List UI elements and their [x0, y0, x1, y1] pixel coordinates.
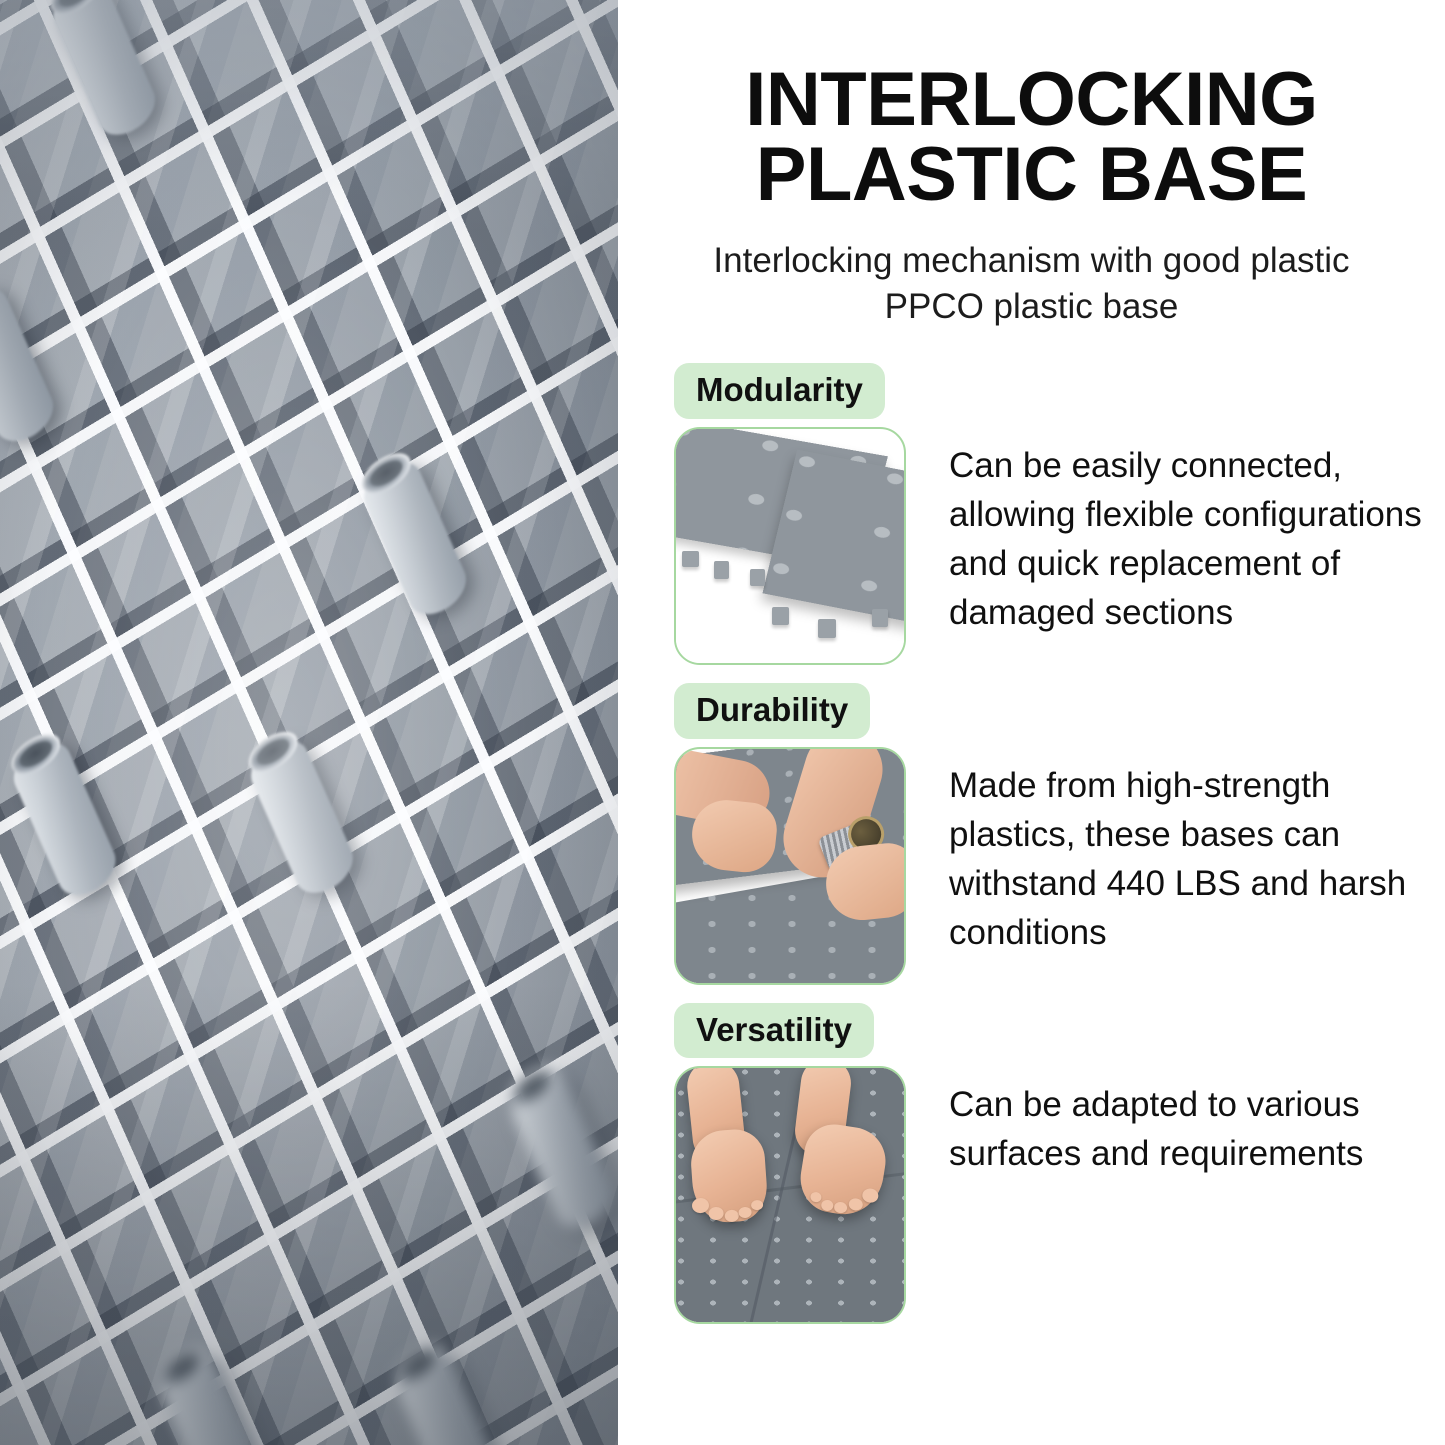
toe-icon	[708, 1207, 724, 1221]
grid-post-icon	[356, 451, 473, 624]
tile-connector-nub-icon	[872, 609, 888, 627]
toe-icon	[848, 1198, 864, 1212]
feature-thumbnail-durability	[674, 747, 906, 985]
feature-badge-versatility: Versatility	[674, 1003, 874, 1059]
feature-item-modularity: Modularity Can be easily connected, allo…	[618, 363, 1445, 665]
tile-connector-nub-icon	[818, 619, 836, 638]
page-subtitle: Interlocking mechanism with good plastic…	[618, 212, 1445, 329]
feature-list: Modularity Can be easily connected, allo…	[618, 363, 1445, 1324]
grid-post-icon	[390, 1343, 507, 1445]
infographic-page: INTERLOCKING PLASTIC BASE Interlocking m…	[0, 0, 1445, 1445]
toe-icon	[810, 1192, 822, 1204]
tile-connector-nub-icon	[750, 569, 765, 586]
toe-icon	[738, 1207, 752, 1219]
page-title: INTERLOCKING PLASTIC BASE	[618, 0, 1445, 212]
feature-row: Made from high-strength plastics, these …	[674, 747, 1445, 985]
feature-thumbnail-versatility	[674, 1066, 906, 1324]
tile-connector-nub-icon	[714, 561, 729, 579]
toe-icon	[691, 1198, 709, 1214]
toe-icon	[820, 1199, 834, 1212]
grid-post-icon	[153, 1345, 270, 1445]
toe-icon	[724, 1210, 739, 1223]
plastic-grid-scene	[0, 0, 618, 1445]
tile-connector-nub-icon	[682, 551, 699, 567]
content-panel: INTERLOCKING PLASTIC BASE Interlocking m…	[618, 0, 1445, 1445]
tile-connector-nub-icon	[772, 607, 789, 625]
page-title-line-1: INTERLOCKING	[745, 57, 1317, 142]
grid-post-icon	[0, 278, 61, 451]
grid-post-icon	[45, 0, 162, 145]
grid-post-icon	[504, 1064, 618, 1237]
feature-thumbnail-modularity	[674, 427, 906, 665]
grid-post-icon	[6, 732, 123, 905]
page-title-line-2: PLASTIC BASE	[756, 132, 1307, 217]
grid-post-icon	[243, 730, 360, 903]
grid-posts-layer	[0, 0, 618, 1445]
feature-description-versatility: Can be adapted to various surfaces and r…	[906, 1066, 1445, 1178]
toe-icon	[833, 1201, 848, 1214]
feature-item-durability: Durability Made from high-strength plast…	[618, 683, 1445, 985]
foot-icon	[689, 1128, 769, 1225]
feature-badge-modularity: Modularity	[674, 363, 885, 419]
feature-row: Can be easily connected, allowing flexib…	[674, 427, 1445, 665]
feature-row: Can be adapted to various surfaces and r…	[674, 1066, 1445, 1324]
feature-item-versatility: Versatility	[618, 1003, 1445, 1325]
hero-product-photo	[0, 0, 618, 1445]
feature-description-modularity: Can be easily connected, allowing flexib…	[906, 427, 1445, 637]
feature-badge-durability: Durability	[674, 683, 870, 739]
feature-description-durability: Made from high-strength plastics, these …	[906, 747, 1445, 957]
